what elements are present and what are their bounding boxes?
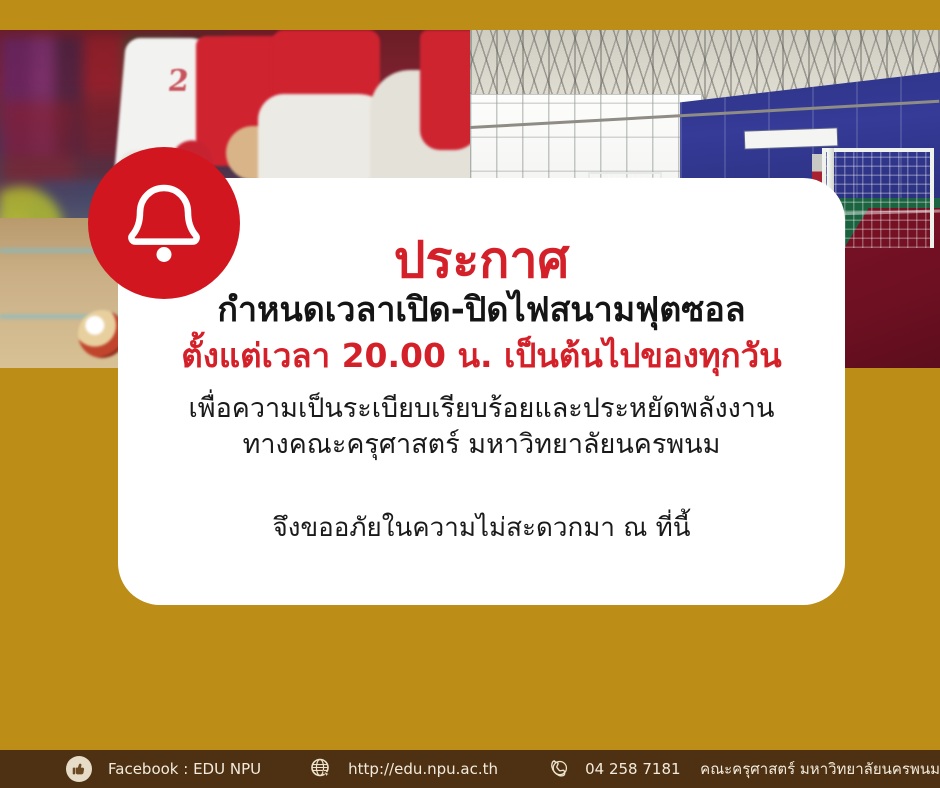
- footer-organization: คณะครุศาสตร์ มหาวิทยาลัยนครพนม: [700, 757, 940, 781]
- phone-icon: [545, 756, 571, 782]
- thumbs-up-icon: [66, 756, 92, 782]
- photo-jersey-number: 2: [166, 64, 191, 99]
- announcement-time-notice: ตั้งแต่เวลา 20.00 น. เป็นต้นไปของทุกวัน: [162, 335, 801, 376]
- top-gold-strip: [0, 0, 940, 30]
- announcement-poster: 2 ประกาศ กำหนดเวลาเปิด-ปิดไฟสนามฟุตซอล ต…: [0, 0, 940, 788]
- footer-label-website: http://edu.npu.ac.th: [348, 760, 498, 778]
- announcement-subhead: กำหนดเวลาเปิด-ปิดไฟสนามฟุตซอล: [162, 290, 801, 331]
- announcement-reason-line-1: เพื่อความเป็นระเบียบเรียบร้อยและประหยัดพ…: [162, 391, 801, 428]
- bell-icon: [116, 175, 212, 271]
- announcement-reason-line-2: ทางคณะครุศาสตร์ มหาวิทยาลัยนครพนม: [162, 427, 801, 464]
- page-title: ประกาศ: [162, 234, 801, 286]
- notification-badge: [88, 147, 240, 299]
- footer-item-facebook[interactable]: Facebook : EDU NPU: [66, 756, 261, 782]
- footer-contact-bar: Facebook : EDU NPU http://edu.npu.ac.th: [0, 750, 940, 788]
- globe-cursor-icon: [308, 756, 334, 782]
- footer-item-phone[interactable]: 04 258 7181: [545, 756, 680, 782]
- announcement-apology: จึงขออภัยในความไม่สะดวกมา ณ ที่นี้: [162, 512, 801, 546]
- footer-item-website[interactable]: http://edu.npu.ac.th: [308, 756, 498, 782]
- photo-wall-sign: [745, 128, 838, 148]
- photo-player-shirt-red-2: [420, 30, 470, 150]
- footer-label-phone: 04 258 7181: [585, 760, 680, 778]
- footer-label-facebook: Facebook : EDU NPU: [108, 760, 261, 778]
